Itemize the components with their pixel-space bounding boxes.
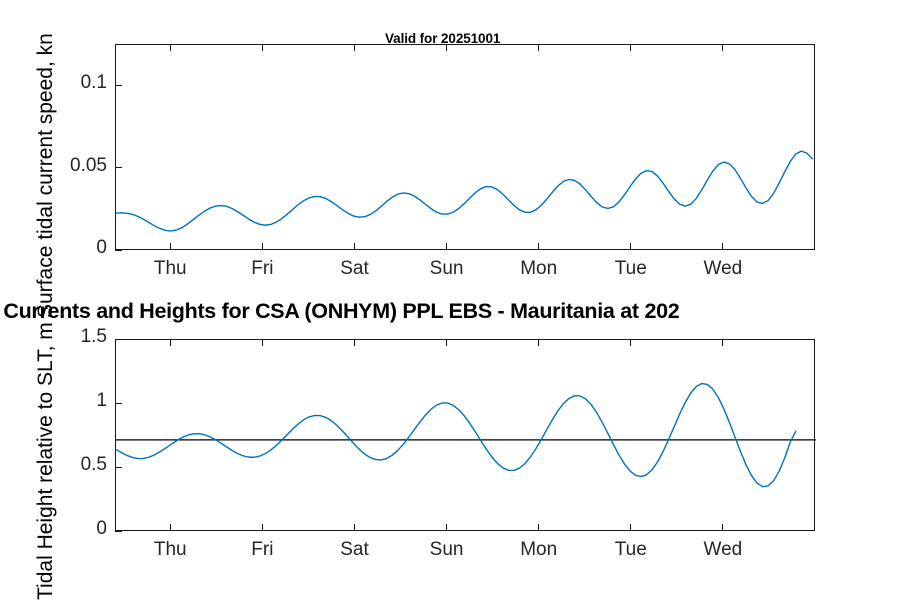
bottom-chart-plot (116, 340, 816, 532)
x-tick-mark (538, 243, 539, 250)
y-tick-mark (115, 403, 122, 404)
x-tick-mark (630, 243, 631, 250)
x-tick-mark (538, 339, 539, 346)
bottom-chart-panel: Tidal Height relative to SLT, m 00.511.5… (0, 295, 900, 600)
y-tick-mark (115, 250, 122, 251)
x-tick-mark (262, 339, 263, 346)
bottom-plot-area (115, 339, 815, 531)
x-tick-mark (446, 339, 447, 346)
x-tick-mark (630, 44, 631, 51)
x-tick-mark (354, 44, 355, 51)
x-tick-mark (170, 339, 171, 346)
top-plot-area (115, 44, 815, 250)
y-tick-mark (115, 467, 122, 468)
x-tick-mark (722, 339, 723, 346)
x-tick-mark (722, 524, 723, 531)
x-tick-label: Wed (663, 258, 783, 280)
y-tick-mark (115, 167, 122, 168)
x-tick-label: Wed (663, 539, 783, 561)
x-tick-mark (354, 243, 355, 250)
x-tick-mark (262, 524, 263, 531)
tidal-figure: Valid for 20251001 Surface tidal current… (0, 0, 900, 600)
y-tick-mark (115, 339, 122, 340)
y-tick-mark (115, 531, 122, 532)
x-tick-mark (722, 44, 723, 51)
x-tick-mark (262, 243, 263, 250)
x-tick-mark (722, 243, 723, 250)
x-tick-mark (630, 339, 631, 346)
x-tick-mark (538, 44, 539, 51)
x-tick-mark (446, 44, 447, 51)
x-tick-mark (446, 243, 447, 250)
x-tick-mark (630, 524, 631, 531)
bottom-chart-y-axis-label: Tidal Height relative to SLT, m (34, 322, 58, 600)
x-tick-mark (354, 339, 355, 346)
surface-current-speed-line (116, 151, 812, 231)
x-tick-mark (262, 44, 263, 51)
tidal-height-line (116, 384, 796, 487)
figure-main-title: l Currents and Heights for CSA (ONHYM) P… (0, 299, 679, 324)
x-tick-mark (354, 524, 355, 531)
top-chart-plot (116, 45, 816, 251)
x-tick-mark (170, 243, 171, 250)
top-chart-y-axis-label: Surface tidal current speed, kn (34, 33, 58, 318)
y-tick-mark (115, 85, 122, 86)
top-chart-panel: Valid for 20251001 Surface tidal current… (0, 0, 900, 295)
x-tick-mark (538, 524, 539, 531)
x-tick-mark (446, 524, 447, 531)
x-tick-mark (170, 44, 171, 51)
x-tick-mark (170, 524, 171, 531)
